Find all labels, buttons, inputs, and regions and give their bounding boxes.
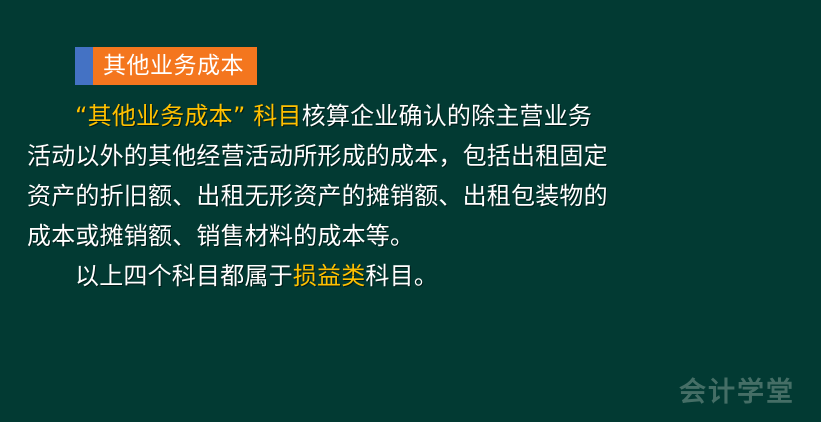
page-title: 其他业务成本 xyxy=(103,55,244,78)
title-box: 其他业务成本 xyxy=(93,47,257,85)
slide-canvas: 其他业务成本 “其他业务成本” 科目核算企业确认的除主营业务 活动以外的其他经营… xyxy=(0,0,821,422)
brand-watermark: 会计学堂 xyxy=(679,379,795,406)
highlight-account-name: “其他业务成本” 科目 xyxy=(75,102,302,130)
paragraph-1-line-2: 活动以外的其他经营活动所形成的成本，包括出租固定 xyxy=(27,136,797,176)
paragraph-1-line-3: 资产的折旧额、出租无形资产的摊销额、出租包装物的 xyxy=(27,176,797,216)
paragraph-2-line-1: 以上四个科目都属于损益类科目。 xyxy=(27,256,797,296)
highlight-category-name: 损益类 xyxy=(293,262,366,290)
paragraph-1-line-1: “其他业务成本” 科目核算企业确认的除主营业务 xyxy=(27,96,797,136)
paragraph-1-line-1-rest: 核算企业确认的除主营业务 xyxy=(302,102,592,130)
paragraph-1-line-4: 成本或摊销额、销售材料的成本等。 xyxy=(27,216,797,256)
paragraph-2-prefix: 以上四个科目都属于 xyxy=(75,262,293,290)
title-accent-bar xyxy=(75,47,93,85)
slide-title-badge: 其他业务成本 xyxy=(75,47,257,85)
slide-body: “其他业务成本” 科目核算企业确认的除主营业务 活动以外的其他经营活动所形成的成… xyxy=(27,96,797,296)
paragraph-2-suffix: 科目。 xyxy=(365,262,438,290)
